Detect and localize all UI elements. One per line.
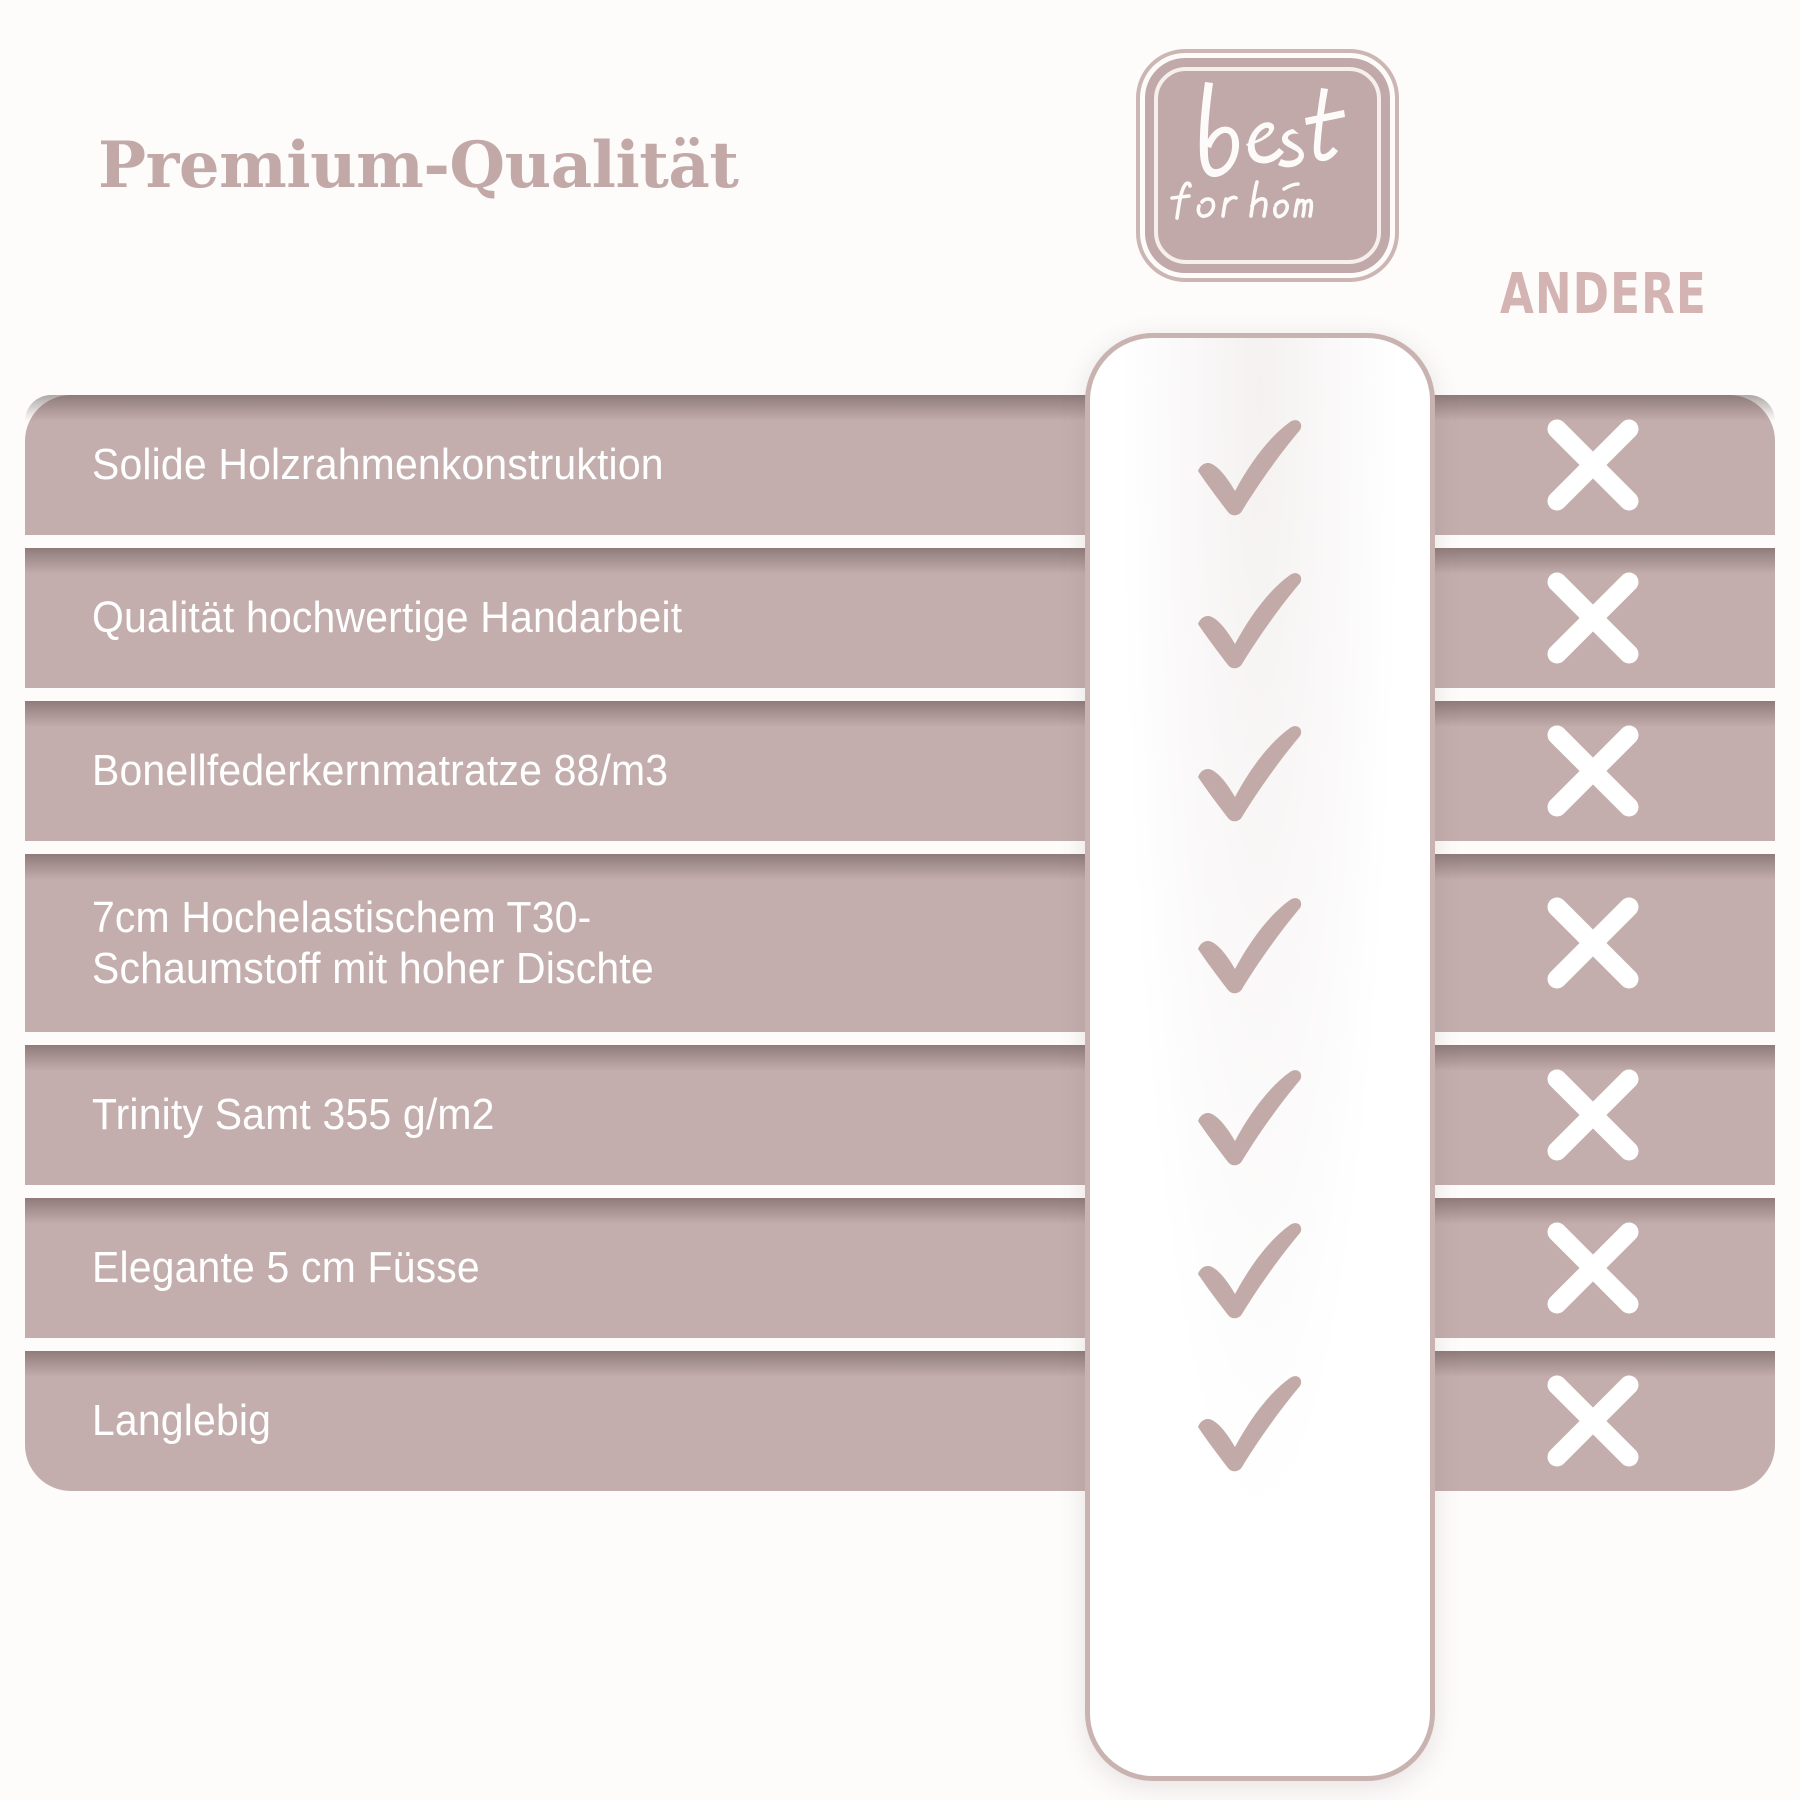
feature-label-line: 7cm Hochelastischem T30- <box>92 892 1015 943</box>
table-row: Langlebig <box>25 1351 1775 1491</box>
feature-label-line: Trinity Samt 355 g/m2 <box>92 1090 495 1139</box>
feature-label: Trinity Samt 355 g/m2 <box>25 1089 1015 1140</box>
check-icon <box>1190 719 1310 823</box>
feature-label: Langlebig <box>25 1395 1015 1446</box>
feature-label-line: Solide Holzrahmenkonstruktion <box>92 440 664 489</box>
feature-label: Qualität hochwertige Handarbeit <box>25 592 1015 643</box>
check-icon <box>1190 566 1310 670</box>
cross-icon <box>1541 1063 1645 1167</box>
best-cell <box>1090 719 1410 823</box>
cross-icon <box>1541 719 1645 823</box>
other-cell <box>1410 566 1775 670</box>
best-cell <box>1090 1216 1410 1320</box>
check-icon <box>1190 413 1310 517</box>
cross-icon <box>1541 891 1645 995</box>
feature-label: Elegante 5 cm Füsse <box>25 1242 1015 1293</box>
best-cell <box>1090 1063 1410 1167</box>
check-icon <box>1190 1063 1310 1167</box>
best-cell <box>1090 566 1410 670</box>
table-row: 7cm Hochelastischem T30- Schaumstoff mit… <box>25 854 1775 1032</box>
other-cell <box>1410 891 1775 995</box>
feature-label-line: Langlebig <box>92 1396 271 1445</box>
check-icon <box>1190 1369 1310 1473</box>
page-title: Premium-Qualität <box>98 128 738 203</box>
comparison-table: Solide Holzrahmenkonstruktion Qualität <box>25 395 1775 1491</box>
feature-label: 7cm Hochelastischem T30- Schaumstoff mit… <box>25 892 1015 994</box>
check-icon <box>1190 1216 1310 1320</box>
cross-icon <box>1541 1216 1645 1320</box>
column-header-andere: ANDERE <box>1500 262 1707 327</box>
cross-icon <box>1541 413 1645 517</box>
best-cell <box>1090 891 1410 995</box>
cross-icon <box>1541 1369 1645 1473</box>
feature-label-line: Elegante 5 cm Füsse <box>92 1243 480 1292</box>
feature-label-line: Qualität hochwertige Handarbeit <box>92 593 682 642</box>
best-cell <box>1090 413 1410 517</box>
feature-label-line: Schaumstoff mit hoher Dischte <box>92 943 1015 994</box>
feature-label: Solide Holzrahmenkonstruktion <box>25 439 1015 490</box>
other-cell <box>1410 1063 1775 1167</box>
check-icon <box>1190 891 1310 995</box>
other-cell <box>1410 413 1775 517</box>
other-cell <box>1410 719 1775 823</box>
other-cell <box>1410 1369 1775 1473</box>
brand-tagline-for-home <box>1167 174 1317 228</box>
other-cell <box>1410 1216 1775 1320</box>
table-row: Bonellfederkernmatratze 88/m3 <box>25 701 1775 841</box>
cross-icon <box>1541 566 1645 670</box>
brand-badge <box>1145 58 1390 273</box>
comparison-infographic: Premium-Qualität <box>0 0 1800 1800</box>
table-row: Elegante 5 cm Füsse <box>25 1198 1775 1338</box>
table-row: Qualität hochwertige Handarbeit <box>25 548 1775 688</box>
table-row: Trinity Samt 355 g/m2 <box>25 1045 1775 1185</box>
feature-label: Bonellfederkernmatratze 88/m3 <box>25 745 1015 796</box>
feature-label-line: Bonellfederkernmatratze 88/m3 <box>92 746 668 795</box>
table-row: Solide Holzrahmenkonstruktion <box>25 395 1775 535</box>
best-cell <box>1090 1369 1410 1473</box>
